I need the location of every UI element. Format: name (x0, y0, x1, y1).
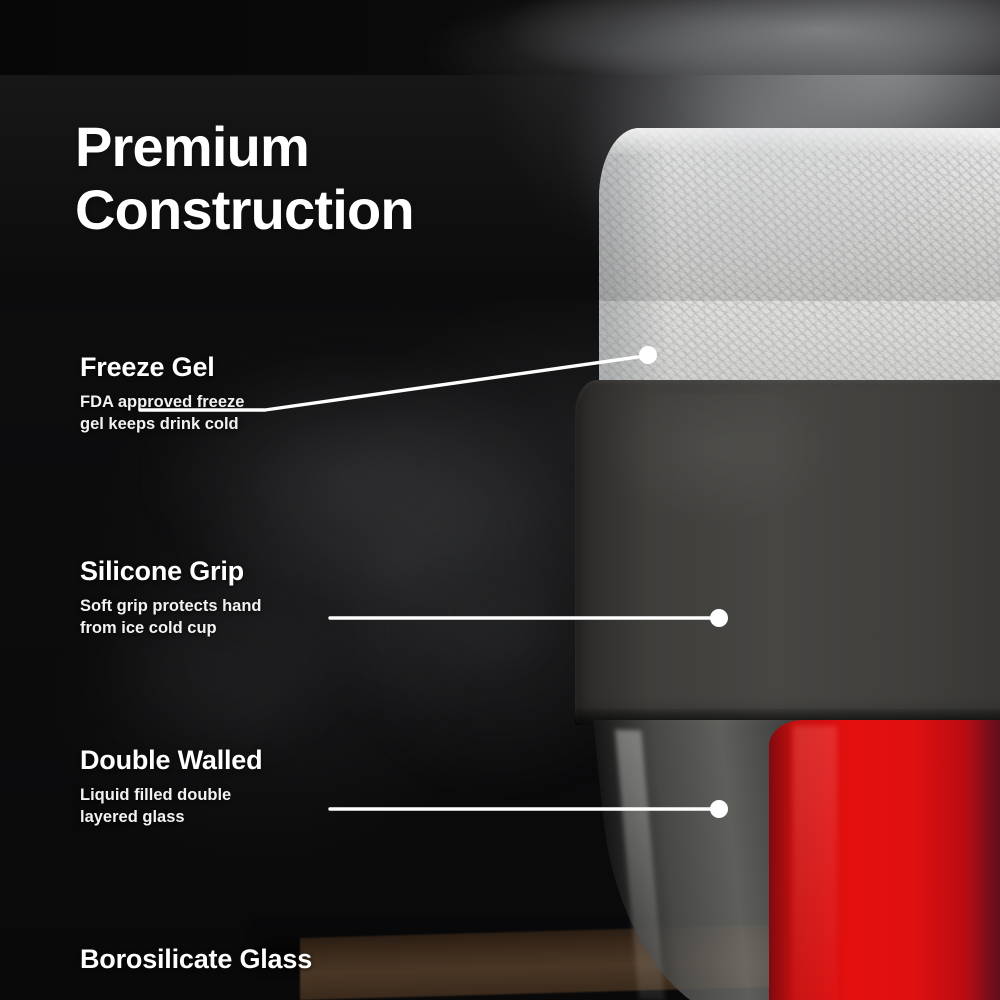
feature-description: Soft grip protects hand from ice cold cu… (80, 596, 410, 640)
feature-title: Silicone Grip (80, 556, 410, 587)
infographic-canvas: Premium Construction Freeze Gel FDA appr… (0, 0, 1000, 1000)
feature-title: Freeze Gel (80, 352, 410, 383)
drink-right-shadow (971, 720, 1000, 1000)
feature-double-walled: Double Walled Liquid filled double layer… (80, 745, 410, 829)
feature-description: Liquid filled double layered glass (80, 785, 410, 829)
feature-description: FDA approved freeze gel keeps drink cold (80, 392, 410, 436)
page-title: Premium Construction (75, 116, 414, 241)
feature-borosilicate-glass: Borosilicate Glass (80, 944, 410, 984)
feature-silicone-grip: Silicone Grip Soft grip protects hand fr… (80, 556, 410, 640)
drink-highlight (793, 726, 837, 1000)
feature-title: Double Walled (80, 745, 410, 776)
glass-bowl (593, 720, 1000, 1000)
grip-highlight (603, 394, 885, 573)
top-smoke-strip (0, 0, 1000, 75)
feature-freeze-gel: Freeze Gel FDA approved freeze gel keeps… (80, 352, 410, 436)
feature-title: Borosilicate Glass (80, 944, 410, 975)
silicone-grip-band (575, 380, 1000, 725)
